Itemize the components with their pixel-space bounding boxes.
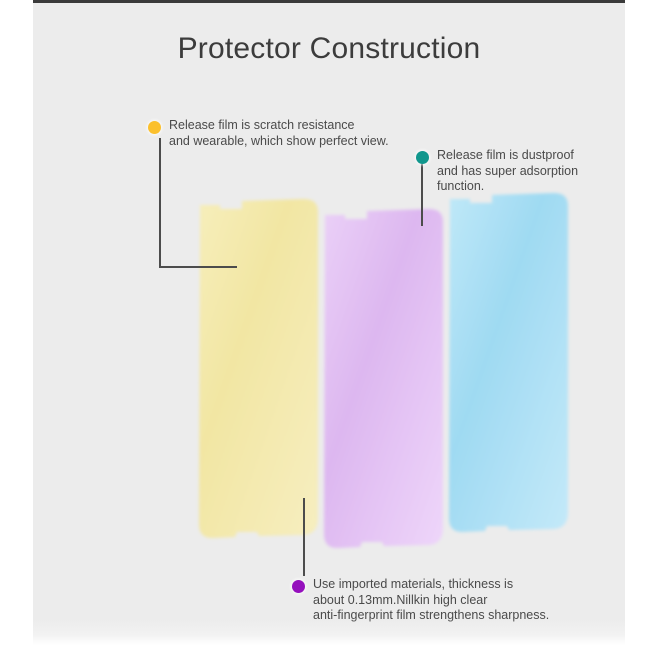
panel-bottom-fade bbox=[33, 619, 625, 645]
annotation-teal-line-2: and has super adsorption bbox=[437, 164, 578, 180]
annotation-purple-text: Use imported materials, thickness is abo… bbox=[313, 577, 549, 624]
page-title: Protector Construction bbox=[33, 32, 625, 66]
leader-line-yellow-vertical bbox=[159, 138, 161, 268]
bullet-dot-icon bbox=[148, 121, 161, 134]
annotation-teal-line-3: function. bbox=[437, 179, 578, 195]
annotation-teal-line-1: Release film is dustproof bbox=[437, 148, 578, 164]
annotation-teal-text: Release film is dustproof and has super … bbox=[437, 148, 578, 195]
leader-line-purple-vertical bbox=[303, 498, 305, 576]
annotation-yellow-line-1: Release film is scratch resistance bbox=[169, 118, 389, 134]
annotation-purple-line-1: Use imported materials, thickness is bbox=[313, 577, 549, 593]
bullet-dot-icon bbox=[292, 580, 305, 593]
leader-line-teal-vertical bbox=[421, 164, 423, 226]
leader-line-yellow-horizontal bbox=[159, 266, 237, 268]
content-panel: Protector Construction bbox=[33, 0, 625, 645]
bullet-dot-icon bbox=[416, 151, 429, 164]
annotation-yellow-line-2: and wearable, which show perfect view. bbox=[169, 134, 389, 150]
panel-top-rule bbox=[33, 0, 625, 3]
annotation-purple-line-2: about 0.13mm.Nillkin high clear bbox=[313, 593, 549, 609]
screenshot-stage: Protector Construction bbox=[0, 0, 660, 660]
release-film-blue bbox=[414, 190, 579, 540]
annotation-yellow-text: Release film is scratch resistance and w… bbox=[169, 118, 389, 149]
